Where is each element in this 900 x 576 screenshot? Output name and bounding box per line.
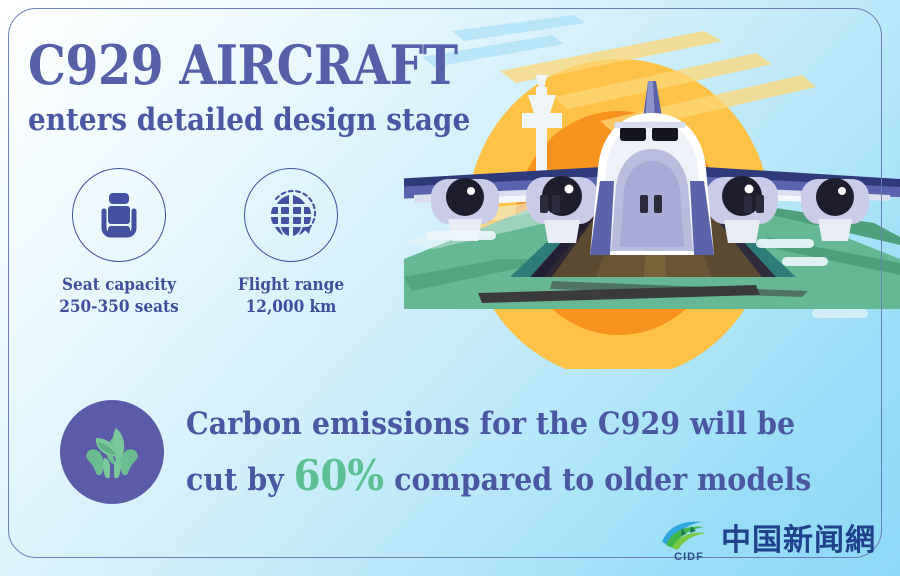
publisher-logo: CIDF 中国新闻網 [658, 518, 876, 562]
carbon-badge [60, 400, 164, 504]
carbon-emissions-block: Carbon emissions for the C929 will be cu… [60, 398, 850, 506]
carbon-line2-before: cut by [186, 462, 284, 498]
carbon-line2-after: compared to older models [394, 462, 811, 498]
stat-label-line2: 250-350 seats [59, 296, 180, 318]
carbon-line-1: Carbon emissions for the C929 will be [186, 398, 811, 450]
publisher-name-cn: 中国新闻網 [721, 525, 876, 562]
carbon-percent: 60% [294, 451, 384, 500]
cidf-swoosh-logo: CIDF [658, 518, 714, 562]
stats-row: Seat capacity 250-350 seats [52, 168, 382, 318]
globe-route-icon [262, 186, 320, 244]
stat-icon-ring [72, 168, 166, 262]
page-title: C929 AIRCRAFT [28, 36, 398, 94]
stat-seat-capacity: Seat capacity 250-350 seats [52, 168, 186, 318]
stat-label-line1: Seat capacity [59, 274, 180, 296]
airplane-seat-icon [91, 187, 147, 243]
stat-icon-ring [244, 168, 338, 262]
stat-label-line2: 12,000 km [231, 296, 352, 318]
aircraft-illustration [404, 9, 900, 369]
carbon-text: Carbon emissions for the C929 will be cu… [186, 398, 866, 506]
carbon-line-2: cut by 60% compared to older models [186, 450, 811, 506]
stat-flight-range: Flight range 12,000 km [224, 168, 358, 318]
headline-block: C929 AIRCRAFT enters detailed design sta… [28, 36, 448, 140]
page-subtitle: enters detailed design stage [28, 100, 406, 140]
stat-label-line1: Flight range [231, 274, 352, 296]
hands-holding-leaves-icon [76, 416, 148, 488]
cidf-abbrev: CIDF [664, 551, 714, 563]
infographic-canvas: C929 AIRCRAFT enters detailed design sta… [0, 0, 900, 576]
